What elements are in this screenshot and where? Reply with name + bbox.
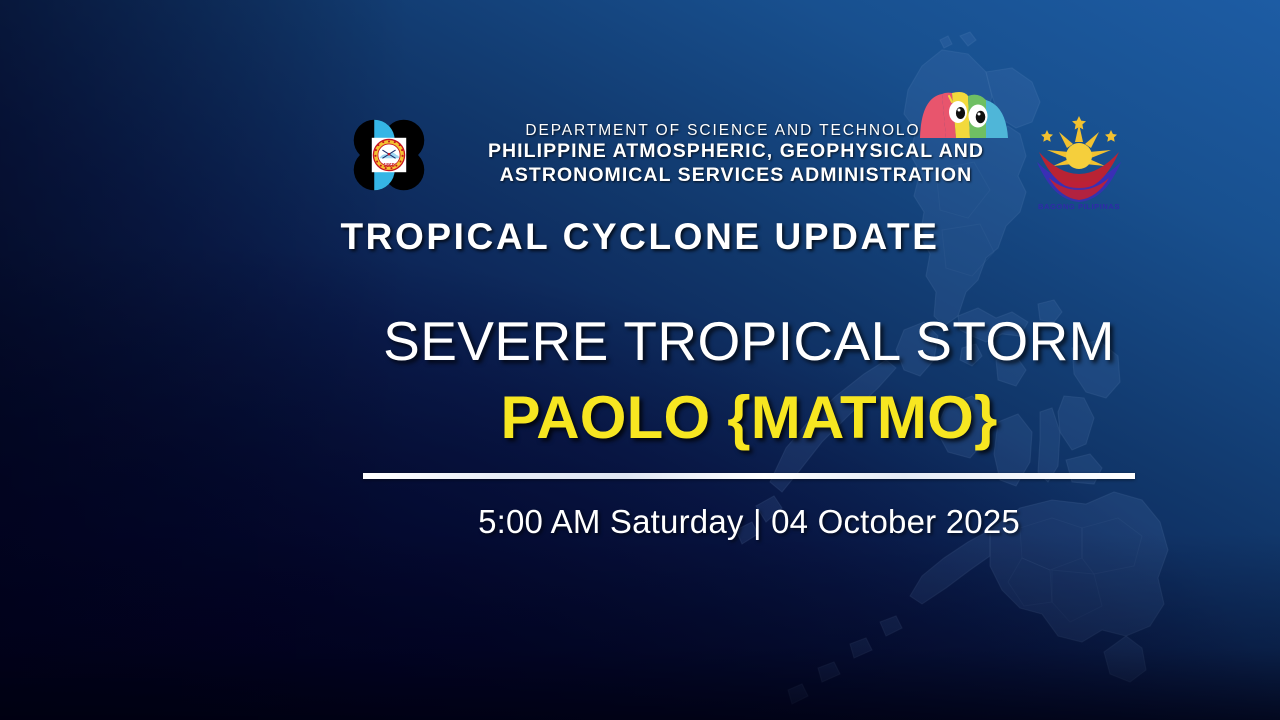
bulletin-datetime: 5:00 AM Saturday | 04 October 2025 — [363, 503, 1135, 541]
pagasa-line-2: ASTRONOMICAL SERVICES ADMINISTRATION — [436, 164, 1036, 188]
bagong-pilipinas-icon: BAGONG PILIPINAS — [1029, 108, 1129, 210]
storm-name: PAOLO {MATMO} — [363, 385, 1135, 451]
agency-header: 1865 DEPARTMENT OF SCIENCE AND TECHNOLOG… — [0, 104, 1280, 204]
tropical-cyclone-update-slide: 1865 DEPARTMENT OF SCIENCE AND TECHNOLOG… — [0, 0, 1280, 720]
divider — [363, 473, 1135, 479]
umbrella-mascot-icon — [912, 60, 1016, 148]
svg-text:1865: 1865 — [383, 163, 394, 169]
pagasa-seal-icon: 1865 — [348, 114, 430, 196]
storm-category: SEVERE TROPICAL STORM — [363, 312, 1135, 371]
page-title: TROPICAL CYCLONE UPDATE — [0, 216, 1280, 258]
bulletin-content: SEVERE TROPICAL STORM PAOLO {MATMO} 5:00… — [363, 312, 1135, 541]
bagong-pilipinas-caption: BAGONG PILIPINAS — [1038, 202, 1120, 210]
